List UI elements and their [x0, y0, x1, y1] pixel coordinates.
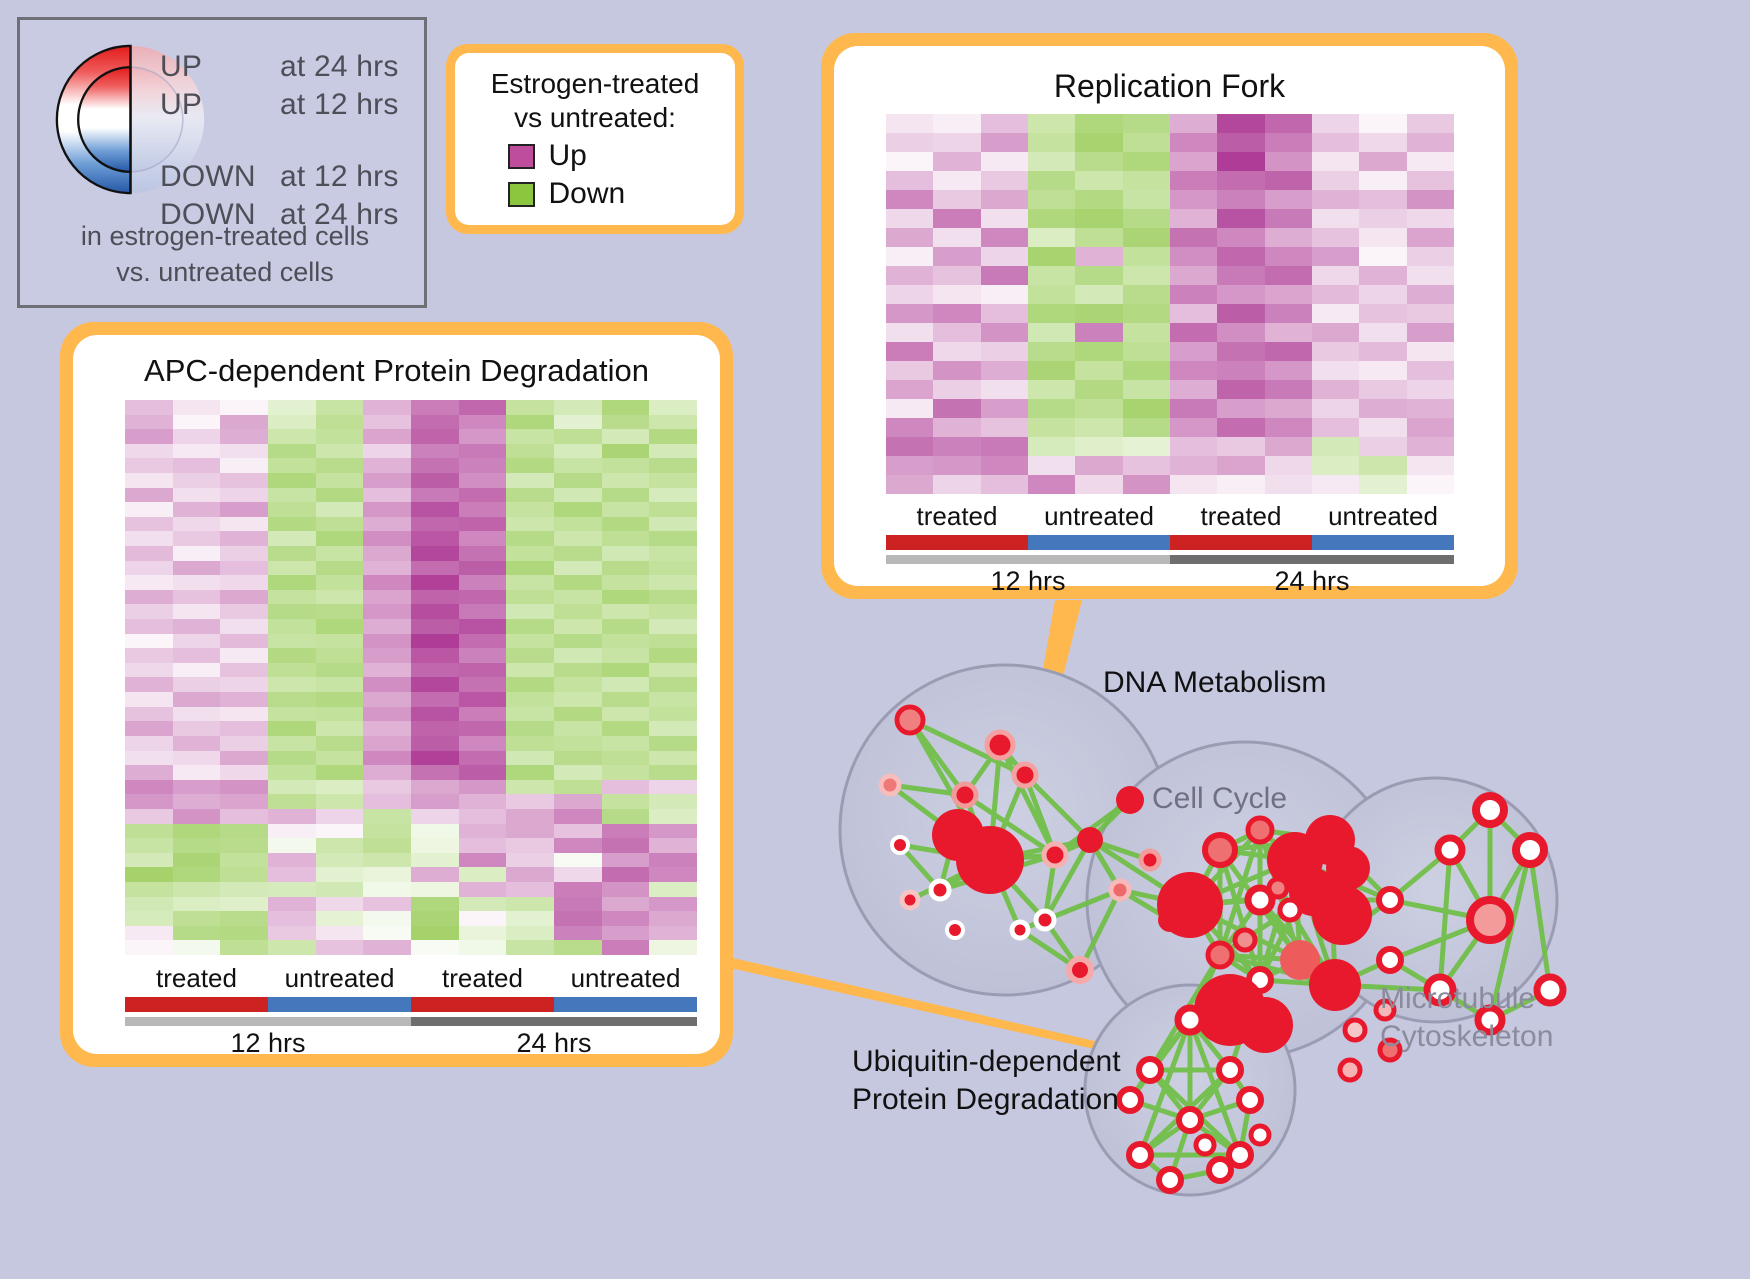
heatmap-cell — [268, 575, 316, 590]
heatmap-cell — [649, 473, 697, 488]
heatmap-cell — [173, 897, 221, 912]
heatmap-cell — [886, 418, 933, 437]
heatmap-cell — [1217, 456, 1264, 475]
heatmap-cell — [981, 247, 1028, 266]
heatmap-cell — [1407, 342, 1454, 361]
heatmap-cell — [363, 590, 411, 605]
heatmap-cell — [1217, 171, 1264, 190]
heatmap-cell — [981, 171, 1028, 190]
heatmap-cell — [411, 517, 459, 532]
heatmap-cell — [1075, 266, 1122, 285]
heatmap-cell — [268, 531, 316, 546]
heatmap-cell — [173, 663, 221, 678]
heatmap-cell — [602, 561, 650, 576]
heatmap-cell — [459, 838, 507, 853]
heatmap-cell — [220, 897, 268, 912]
heatmap-cell — [1407, 266, 1454, 285]
heatmap-cell — [316, 517, 364, 532]
network-diagram — [790, 600, 1750, 1279]
heatmap-cell — [602, 765, 650, 780]
heatmap-cell — [1123, 228, 1170, 247]
heatmap-cell — [1170, 399, 1217, 418]
heatmap-cell — [363, 692, 411, 707]
heatmap-cell — [554, 926, 602, 941]
heatmap-cell — [1359, 342, 1406, 361]
heatmap-cell — [411, 677, 459, 692]
heatmap-cell — [459, 444, 507, 459]
heatmap-cell — [125, 488, 173, 503]
heatmap-cell — [125, 415, 173, 430]
heatmap-cell — [1075, 418, 1122, 437]
heatmap-cell — [554, 502, 602, 517]
heatmap-cell — [1359, 171, 1406, 190]
heatmap-cell — [220, 502, 268, 517]
heatmap-cell — [933, 361, 980, 380]
heatmap-cell — [363, 838, 411, 853]
axis-bar-24hrs — [411, 1017, 697, 1026]
heatmap-cell — [1265, 475, 1312, 494]
heatmap-cell — [411, 415, 459, 430]
heatmap-cell — [649, 897, 697, 912]
heatmap-cell — [506, 897, 554, 912]
heatmap-cell — [554, 911, 602, 926]
heatmap-cell — [125, 575, 173, 590]
heatmap-cell — [125, 751, 173, 766]
heatmap-cell — [316, 429, 364, 444]
heatmap-cell — [1028, 418, 1075, 437]
heatmap-cell — [602, 794, 650, 809]
heatmap-cell — [1075, 152, 1122, 171]
axis-bar-12hrs — [886, 555, 1170, 564]
heatmap-cell — [220, 648, 268, 663]
heatmap-cell — [1123, 133, 1170, 152]
heatmap-cell — [554, 940, 602, 955]
heatmap-cell — [1265, 266, 1312, 285]
heatmap-cell — [173, 444, 221, 459]
heatmap-cell — [649, 590, 697, 605]
heatmap-cell — [1123, 437, 1170, 456]
heatmap-cell — [173, 619, 221, 634]
heatmap-cell — [1123, 456, 1170, 475]
heatmap-cell — [268, 429, 316, 444]
heatmap-cell — [602, 707, 650, 722]
heatmap-cell — [933, 190, 980, 209]
heatmap-cell — [886, 247, 933, 266]
heatmap-cell — [459, 517, 507, 532]
heatmap-cell — [316, 765, 364, 780]
heatmap-cell — [411, 853, 459, 868]
heatmap-cell — [1170, 418, 1217, 437]
heatmap-cell — [1312, 475, 1359, 494]
heatmap-cell — [1170, 456, 1217, 475]
heatmap-cell — [411, 634, 459, 649]
heatmap-cell — [602, 546, 650, 561]
heatmap-cell — [554, 590, 602, 605]
heatmap-cell — [602, 897, 650, 912]
axis-bar-treated — [125, 997, 268, 1012]
heatmap-cell — [1312, 133, 1359, 152]
axis-time-bar — [125, 1017, 697, 1026]
heatmap-cell — [506, 765, 554, 780]
heatmap-cell — [1265, 323, 1312, 342]
heatmap-cell — [268, 677, 316, 692]
heatmap-cell — [125, 502, 173, 517]
heatmap-cell — [1170, 171, 1217, 190]
heatmap-cell — [173, 561, 221, 576]
heatmap-cell — [173, 707, 221, 722]
heatmap-cell — [268, 561, 316, 576]
legend-title-line1: Estrogen-treated — [491, 67, 700, 101]
heatmap-cell — [1217, 418, 1264, 437]
heatmap-cell — [981, 437, 1028, 456]
heatmap-cell — [411, 721, 459, 736]
heatmap-cell — [933, 380, 980, 399]
heatmap-cell — [411, 590, 459, 605]
heatmap-cell — [1359, 209, 1406, 228]
heatmap-cell — [506, 429, 554, 444]
heatmap-cell — [459, 590, 507, 605]
heatmap-cell — [981, 152, 1028, 171]
heatmap-cell — [173, 867, 221, 882]
heatmap-cell — [1359, 133, 1406, 152]
heatmap-cell — [316, 561, 364, 576]
heatmap-cell — [1265, 342, 1312, 361]
heatmap-cell — [1312, 399, 1359, 418]
heatmap-cell — [316, 780, 364, 795]
heatmap-cell — [1123, 152, 1170, 171]
heatmap-cell — [1359, 418, 1406, 437]
heatmap-cell — [1028, 304, 1075, 323]
heatmap-cell — [981, 399, 1028, 418]
heatmap-cell — [981, 361, 1028, 380]
heatmap-cell — [125, 429, 173, 444]
heatmap-cell — [554, 415, 602, 430]
heatmap-cell — [649, 400, 697, 415]
heatmap-cell — [125, 838, 173, 853]
heatmap-cell — [316, 911, 364, 926]
heatmap-cell — [363, 546, 411, 561]
heatmap-cell — [602, 853, 650, 868]
heatmap-cell — [1407, 114, 1454, 133]
cluster-label-dna-metabolism: DNA Metabolism — [1103, 666, 1326, 700]
heatmap-cell — [268, 867, 316, 882]
heatmap-cell — [506, 677, 554, 692]
heatmap-cell — [268, 765, 316, 780]
heatmap-cell — [554, 444, 602, 459]
heatmap-cell — [459, 751, 507, 766]
heatmap-cell — [981, 114, 1028, 133]
heatmap-cell — [933, 266, 980, 285]
heatmap-cell — [220, 751, 268, 766]
heatmap-cell — [220, 473, 268, 488]
heatmap-cell — [125, 853, 173, 868]
heatmap-cell — [173, 531, 221, 546]
heatmap-cell — [411, 531, 459, 546]
heatmap-cell — [933, 456, 980, 475]
heatmap-cell — [506, 648, 554, 663]
legend-item-up: Up — [508, 139, 683, 173]
heatmap-cell — [363, 400, 411, 415]
heatmap-cell — [933, 304, 980, 323]
heatmap-cell — [506, 590, 554, 605]
heatmap-cell — [1217, 323, 1264, 342]
heatmap-cell — [125, 561, 173, 576]
heatmap-cell — [554, 765, 602, 780]
heatmap-cell — [602, 751, 650, 766]
axis-bar-treated — [886, 535, 1028, 550]
heatmap-cell — [981, 304, 1028, 323]
heatmap-cell — [554, 809, 602, 824]
heatmap-cell — [173, 590, 221, 605]
heatmap-cell — [506, 780, 554, 795]
heatmap-cell — [316, 444, 364, 459]
cluster-label-ubiquitin-degradation: Ubiquitin-dependent Protein Degradation — [852, 1043, 1121, 1119]
heatmap-cell — [1028, 323, 1075, 342]
heatmap-cell — [173, 853, 221, 868]
heatmap-cell — [411, 619, 459, 634]
heatmap-cell — [1028, 399, 1075, 418]
heatmap-cell — [173, 838, 221, 853]
heatmap-cell — [1075, 475, 1122, 494]
heatmap-cell — [1265, 304, 1312, 323]
heatmap-cell — [316, 590, 364, 605]
heatmap-cell — [506, 809, 554, 824]
color-key-direction: UP — [160, 88, 280, 122]
heatmap-cell — [411, 897, 459, 912]
heatmap-cell — [1028, 380, 1075, 399]
heatmap-cell — [1123, 247, 1170, 266]
heatmap-cell — [220, 429, 268, 444]
heatmap-cell — [506, 517, 554, 532]
heatmap-cell — [1170, 266, 1217, 285]
panel-title-apc: APC-dependent Protein Degradation — [73, 353, 720, 389]
heatmap-cell — [602, 400, 650, 415]
heatmap-cell — [1123, 209, 1170, 228]
heatmap-cell — [886, 304, 933, 323]
heatmap-cell — [1123, 475, 1170, 494]
heatmap-cell — [602, 692, 650, 707]
heatmap-cell — [1265, 247, 1312, 266]
heatmap-cell — [1407, 171, 1454, 190]
heatmap-cell — [125, 867, 173, 882]
axis-time-labels: 12 hrs 24 hrs — [886, 566, 1454, 597]
heatmap-cell — [602, 940, 650, 955]
heatmap-cell — [268, 809, 316, 824]
heatmap-cell — [268, 751, 316, 766]
heatmap-cell — [411, 765, 459, 780]
heatmap-apc-degradation — [125, 400, 697, 955]
heatmap-cell — [268, 911, 316, 926]
heatmap-cell — [649, 780, 697, 795]
heatmap-cell — [220, 415, 268, 430]
axis-bar-treated — [1170, 535, 1312, 550]
heatmap-cell — [316, 867, 364, 882]
heatmap-cell — [649, 444, 697, 459]
heatmap-cell — [363, 561, 411, 576]
heatmap-cell — [411, 751, 459, 766]
heatmap-cell — [554, 692, 602, 707]
heatmap-cell — [886, 152, 933, 171]
cluster-label-cell-cycle: Cell Cycle — [1152, 782, 1287, 816]
heatmap-cell — [554, 736, 602, 751]
heatmap-cell — [554, 546, 602, 561]
heatmap-cell — [125, 400, 173, 415]
heatmap-cell — [1359, 456, 1406, 475]
heatmap-cell — [1265, 114, 1312, 133]
heatmap-cell — [363, 458, 411, 473]
heatmap-cell — [125, 531, 173, 546]
heatmap-cell — [649, 502, 697, 517]
heatmap-cell — [220, 663, 268, 678]
heatmap-cell — [1407, 418, 1454, 437]
axis-group-labels: treated untreated treated untreated — [125, 963, 697, 994]
heatmap-cell — [316, 400, 364, 415]
heatmap-cell — [411, 648, 459, 663]
heatmap-cell — [886, 228, 933, 247]
heatmap-cell — [459, 488, 507, 503]
heatmap-cell — [1217, 285, 1264, 304]
heatmap-cell — [1407, 247, 1454, 266]
heatmap-cell — [316, 619, 364, 634]
heatmap-cell — [1170, 475, 1217, 494]
axis-apc-degradation: treated untreated treated untreated 12 h — [125, 963, 697, 1059]
heatmap-cell — [1407, 190, 1454, 209]
heatmap-cell — [459, 604, 507, 619]
heatmap-cell — [1312, 342, 1359, 361]
heatmap-cell — [125, 458, 173, 473]
heatmap-cell — [268, 824, 316, 839]
heatmap-cell — [459, 926, 507, 941]
heatmap-cell — [125, 809, 173, 824]
heatmap-cell — [649, 721, 697, 736]
heatmap-cell — [933, 418, 980, 437]
heatmap-cell — [1265, 209, 1312, 228]
heatmap-cell — [173, 721, 221, 736]
heatmap-cell — [363, 751, 411, 766]
heatmap-cell — [1312, 266, 1359, 285]
heatmap-cell — [220, 488, 268, 503]
heatmap-cell — [1312, 171, 1359, 190]
heatmap-cell — [933, 114, 980, 133]
heatmap-cell — [173, 575, 221, 590]
color-key-time: at 12 hrs — [280, 160, 399, 194]
heatmap-cell — [459, 415, 507, 430]
heatmap-cell — [1217, 209, 1264, 228]
heatmap-cell — [1407, 399, 1454, 418]
heatmap-cell — [125, 882, 173, 897]
heatmap-cell — [649, 517, 697, 532]
heatmap-cell — [506, 502, 554, 517]
heatmap-cell — [554, 561, 602, 576]
heatmap-cell — [886, 285, 933, 304]
heatmap-cell — [125, 590, 173, 605]
heatmap-cell — [1123, 190, 1170, 209]
heatmap-cell — [316, 502, 364, 517]
heatmap-cell — [1265, 456, 1312, 475]
heatmap-cell — [1170, 152, 1217, 171]
heatmap-cell — [649, 677, 697, 692]
heatmap-cell — [1075, 361, 1122, 380]
heatmap-cell — [268, 838, 316, 853]
heatmap-cell — [363, 488, 411, 503]
heatmap-cell — [1123, 399, 1170, 418]
heatmap-cell — [459, 794, 507, 809]
heatmap-cell — [1075, 209, 1122, 228]
axis-group-label: untreated — [1312, 501, 1454, 532]
heatmap-cell — [554, 824, 602, 839]
heatmap-cell — [459, 721, 507, 736]
heatmap-cell — [649, 648, 697, 663]
heatmap-cell — [363, 575, 411, 590]
heatmap-cell — [1075, 190, 1122, 209]
heatmap-cell — [649, 838, 697, 853]
heatmap-cell — [554, 780, 602, 795]
heatmap-cell — [459, 692, 507, 707]
heatmap-cell — [506, 736, 554, 751]
heatmap-cell — [173, 634, 221, 649]
color-key-note-line2: vs. untreated cells — [20, 254, 430, 290]
heatmap-cell — [173, 824, 221, 839]
panel-title-replication-fork: Replication Fork — [834, 68, 1505, 105]
heatmap-cell — [1312, 114, 1359, 133]
heatmap-cell — [411, 940, 459, 955]
heatmap-cell — [173, 473, 221, 488]
axis-bar-untreated — [554, 997, 697, 1012]
heatmap-cell — [1075, 304, 1122, 323]
heatmap-cell — [411, 809, 459, 824]
heatmap-cell — [220, 882, 268, 897]
heatmap-cell — [649, 809, 697, 824]
heatmap-cell — [602, 531, 650, 546]
heatmap-cell — [173, 677, 221, 692]
heatmap-cell — [602, 590, 650, 605]
heatmap-cell — [1028, 133, 1075, 152]
axis-bar-untreated — [1028, 535, 1170, 550]
heatmap-cell — [268, 444, 316, 459]
heatmap-cell — [602, 911, 650, 926]
heatmap-replication-fork — [886, 114, 1454, 494]
heatmap-cell — [220, 692, 268, 707]
heatmap-cell — [220, 619, 268, 634]
heatmap-cell — [886, 114, 933, 133]
heatmap-cell — [316, 707, 364, 722]
heatmap-cell — [220, 721, 268, 736]
heatmap-cell — [933, 475, 980, 494]
heatmap-cell — [886, 437, 933, 456]
heatmap-cell — [220, 765, 268, 780]
heatmap-cell — [363, 882, 411, 897]
heatmap-cell — [1312, 285, 1359, 304]
heatmap-cell — [1170, 247, 1217, 266]
heatmap-cell — [933, 228, 980, 247]
heatmap-cell — [363, 619, 411, 634]
heatmap-cell — [1123, 342, 1170, 361]
heatmap-cell — [173, 751, 221, 766]
heatmap-cell — [602, 663, 650, 678]
heatmap-cell — [1170, 190, 1217, 209]
heatmap-cell — [981, 342, 1028, 361]
heatmap-cell — [1359, 266, 1406, 285]
heatmap-cell — [125, 911, 173, 926]
heatmap-cell — [411, 604, 459, 619]
color-key-time: at 12 hrs — [280, 88, 399, 122]
heatmap-cell — [506, 619, 554, 634]
heatmap-cell — [125, 473, 173, 488]
heatmap-cell — [363, 824, 411, 839]
axis-bar-untreated — [1312, 535, 1454, 550]
legend-label-down: Down — [549, 177, 626, 211]
color-key-row: UP at 24 hrs — [160, 50, 430, 88]
